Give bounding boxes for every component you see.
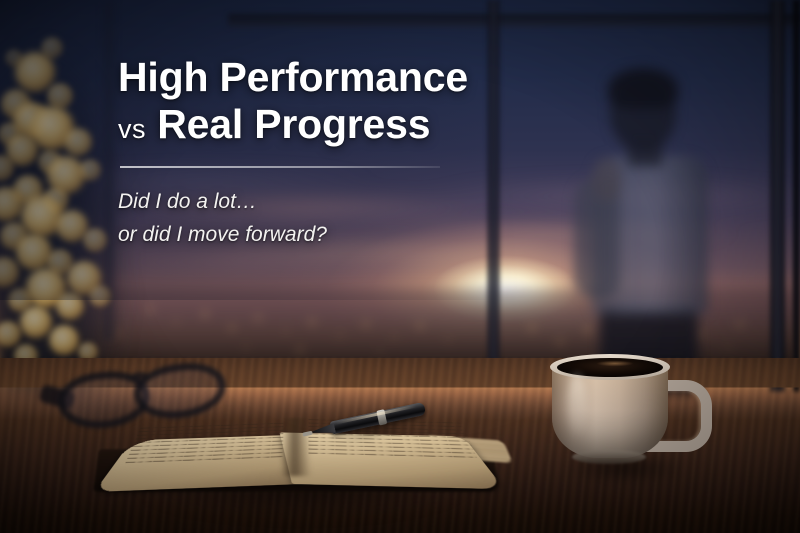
window-frame-vertical-middle — [487, 0, 500, 380]
city-light — [417, 323, 423, 329]
bokeh-light — [0, 321, 21, 347]
bokeh-light — [83, 228, 107, 252]
headline-text-block: High Performance vs Real Progress Did I … — [118, 56, 478, 251]
window-frame-vertical-right — [770, 0, 785, 392]
city-light — [446, 338, 451, 343]
bokeh-light — [79, 159, 101, 181]
city-light — [284, 330, 288, 334]
pen-tip — [302, 431, 313, 437]
silhouette-man-thinking — [540, 60, 770, 390]
headline-line-1: High Performance — [118, 56, 478, 99]
bokeh-light — [41, 37, 63, 59]
city-light — [338, 334, 343, 339]
headline-vs-word: vs — [118, 114, 146, 144]
city-light — [309, 319, 315, 325]
cup-highlight — [568, 374, 586, 436]
handwriting-left-page — [125, 420, 284, 464]
subtitle-line-2: or did I move forward? — [118, 219, 478, 251]
city-light — [174, 320, 179, 325]
bokeh-light — [5, 49, 23, 67]
city-light — [363, 321, 369, 327]
quote-graphic-canvas: High Performance vs Real Progress Did I … — [0, 0, 800, 533]
city-light — [529, 325, 535, 331]
city-light — [202, 311, 209, 318]
divider-rule — [120, 166, 440, 168]
city-light — [378, 350, 383, 355]
coffee-cup — [546, 352, 702, 480]
window-frame-vertical-far-right — [793, 0, 800, 392]
bokeh-light — [64, 128, 92, 156]
bokeh-light — [56, 292, 84, 320]
cup-base — [572, 450, 646, 464]
subtitle-line-1: Did I do a lot… — [118, 186, 478, 218]
headline-line-2: vs Real Progress — [118, 99, 478, 149]
city-light — [297, 347, 303, 353]
man-hand — [592, 158, 622, 202]
bokeh-light — [49, 325, 79, 355]
open-notebook — [96, 380, 506, 520]
bokeh-light — [89, 285, 111, 307]
window-frame-horizontal-top — [228, 14, 800, 27]
city-light — [392, 336, 396, 340]
city-light — [229, 325, 234, 330]
coffee-highlight — [590, 360, 640, 367]
headline-emphasis: Real Progress — [157, 101, 430, 147]
bokeh-light — [20, 306, 52, 338]
city-light — [244, 346, 249, 351]
man-hair — [608, 68, 678, 108]
city-light — [255, 315, 261, 321]
bokeh-light — [0, 257, 19, 287]
